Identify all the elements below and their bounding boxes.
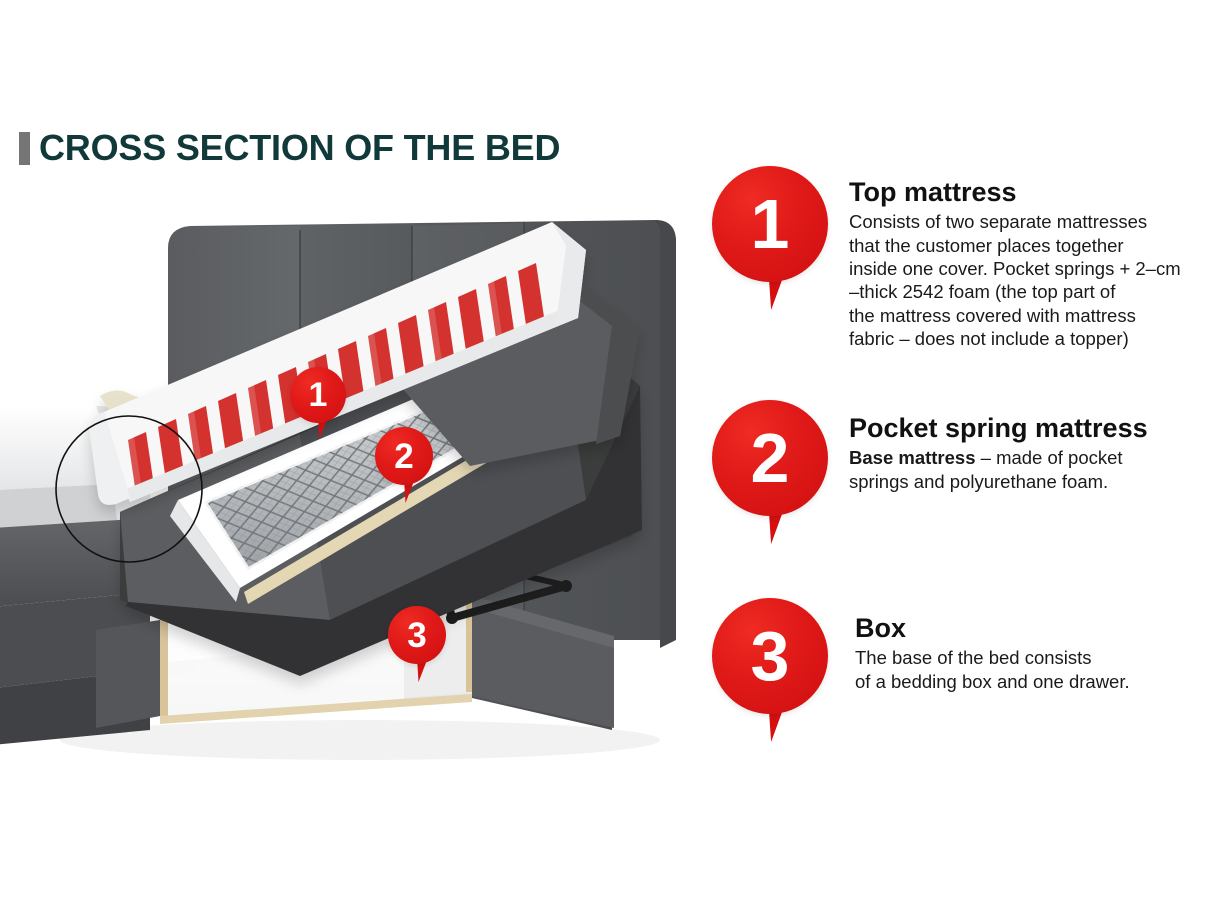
legend-title-1: Top mattress — [849, 178, 1201, 206]
bed-cutaway-illustration — [0, 200, 700, 760]
page-title-text: CROSS SECTION OF THE BED — [39, 130, 560, 166]
pin-bubble: 3 — [388, 606, 446, 664]
pin-number: 3 — [751, 621, 790, 691]
legend-item-2: Pocket spring mattress Base mattress – m… — [849, 414, 1209, 493]
pin-bubble: 1 — [712, 166, 828, 282]
image-callout-pin-1[interactable]: 1 — [290, 367, 346, 441]
image-callout-pin-3[interactable]: 3 — [388, 606, 446, 684]
page-title: CROSS SECTION OF THE BED — [19, 130, 560, 166]
legend-item-1: Top mattress Consists of two separate ma… — [849, 178, 1201, 350]
pin-number: 2 — [751, 423, 790, 493]
legend-line: The base of the bed consists — [855, 646, 1207, 669]
pin-bubble: 2 — [375, 427, 433, 485]
legend-line: that the customer places together — [849, 234, 1201, 257]
pin-bubble: 1 — [290, 367, 346, 423]
legend-line: the mattress covered with mattress — [849, 304, 1201, 327]
pin-bubble: 3 — [712, 598, 828, 714]
pin-number: 1 — [309, 378, 328, 412]
legend-line: inside one cover. Pocket springs + 2–cm — [849, 257, 1201, 280]
pin-bubble: 2 — [712, 400, 828, 516]
legend-title-3: Box — [855, 614, 1207, 642]
pin-number: 1 — [751, 189, 790, 259]
legend-bold-lead: Base mattress — [849, 447, 976, 468]
legend-line: Base mattress – made of pocket — [849, 446, 1209, 469]
pin-number: 2 — [394, 439, 413, 474]
legend-body-3: The base of the bed consists of a beddin… — [855, 646, 1207, 693]
legend-body-2: Base mattress – made of pocket springs a… — [849, 446, 1209, 493]
pin-number: 3 — [407, 618, 426, 653]
legend-item-3: Box The base of the bed consists of a be… — [855, 614, 1207, 693]
title-accent-bar — [19, 132, 30, 165]
legend-line: fabric – does not include a topper) — [849, 327, 1201, 350]
legend-line-rest: – made of pocket — [976, 447, 1123, 468]
legend-pin-1[interactable]: 1 — [712, 166, 828, 314]
legend-line: springs and polyurethane foam. — [849, 470, 1209, 493]
legend-line: Consists of two separate mattresses — [849, 210, 1201, 233]
legend-line: –thick 2542 foam (the top part of — [849, 280, 1201, 303]
legend-title-2: Pocket spring mattress — [849, 414, 1209, 442]
legend-body-1: Consists of two separate mattresses that… — [849, 210, 1201, 350]
image-callout-pin-2[interactable]: 2 — [375, 427, 433, 505]
legend-pin-3[interactable]: 3 — [712, 598, 828, 746]
legend-pin-2[interactable]: 2 — [712, 400, 828, 548]
legend-line: of a bedding box and one drawer. — [855, 670, 1207, 693]
infographic-canvas: CROSS SECTION OF THE BED — [0, 0, 1214, 911]
